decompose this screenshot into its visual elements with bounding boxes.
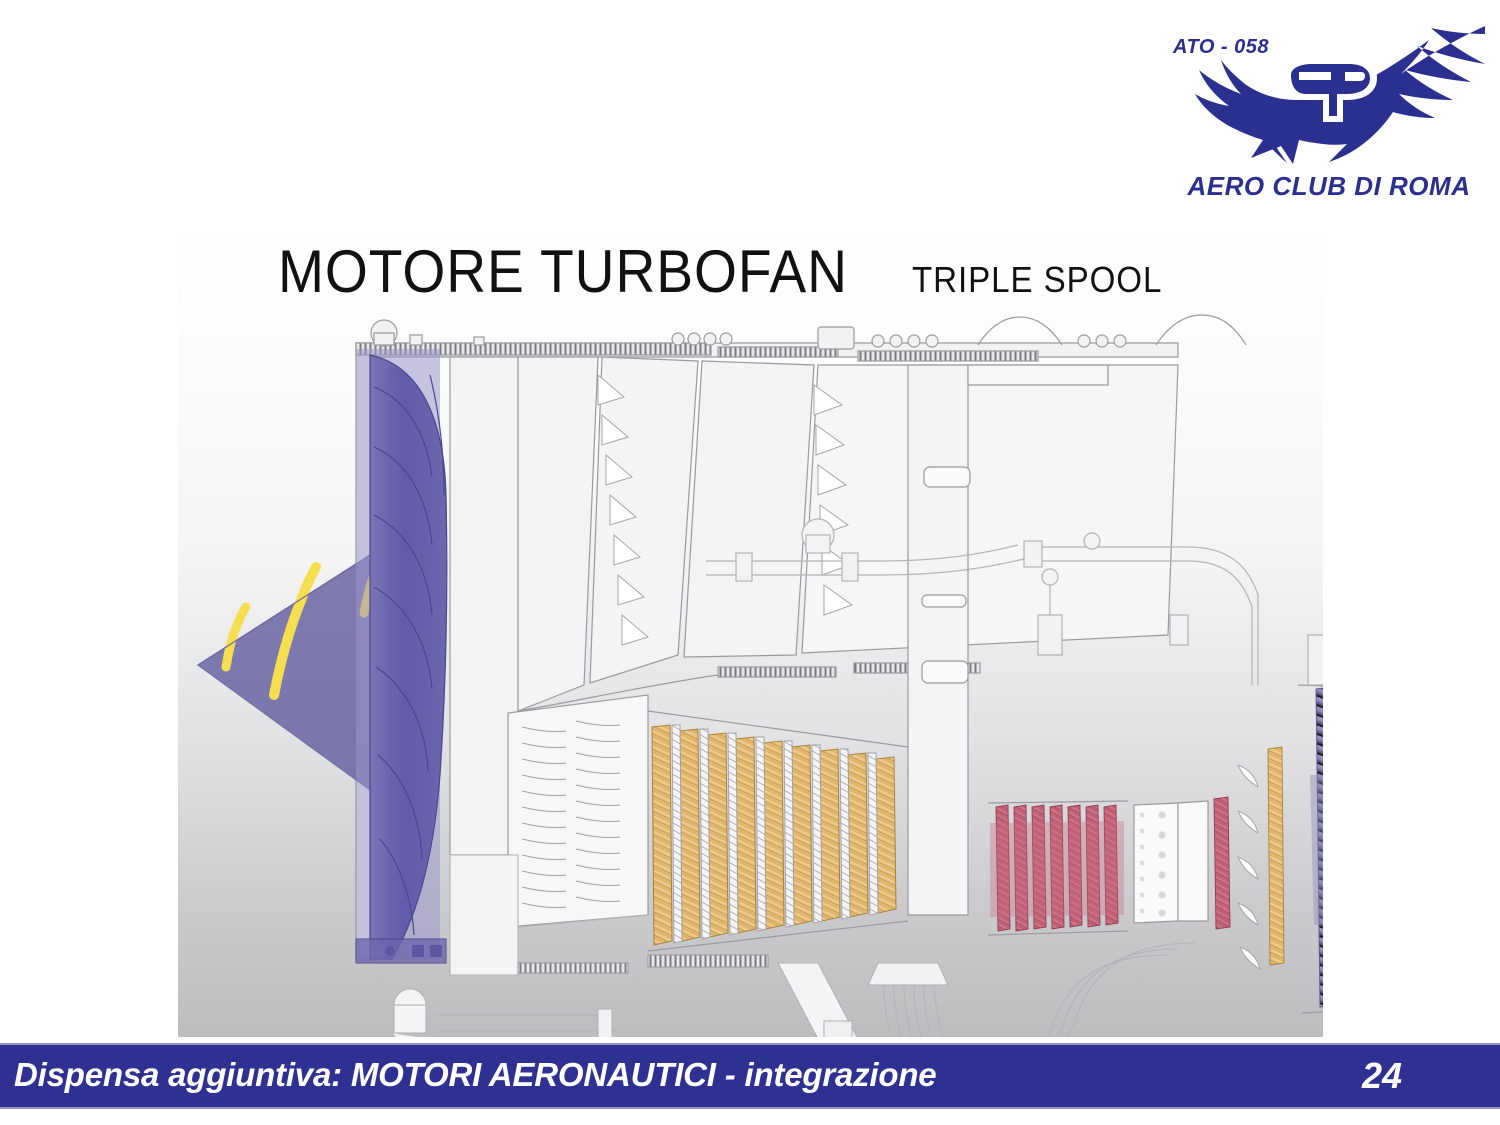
engine-diagram-panel: MOTORE TURBOFANTRIPLE SPOOL bbox=[178, 215, 1323, 1037]
turbofan-cutaway-drawing bbox=[178, 215, 1323, 1037]
lp-turbine bbox=[1298, 685, 1323, 1013]
page-number: 24 bbox=[1362, 1055, 1402, 1097]
fan-blade bbox=[356, 349, 447, 963]
booster-compressor bbox=[508, 695, 648, 927]
hp-compressor bbox=[988, 801, 1128, 935]
footer-title: Dispensa aggiuntiva: MOTORI AERONAUTICI … bbox=[14, 1056, 936, 1094]
combustor bbox=[1134, 801, 1208, 923]
club-name-label: AERO CLUB DI ROMA bbox=[1169, 171, 1489, 202]
ip-compressor bbox=[648, 711, 908, 951]
hp-turbine bbox=[1214, 797, 1230, 929]
spinner-cone bbox=[198, 555, 374, 790]
ip-turbine bbox=[1238, 747, 1284, 969]
slide-footer: Dispensa aggiuntiva: MOTORI AERONAUTICI … bbox=[0, 1043, 1500, 1109]
ato-code-label: ATO - 058 bbox=[1173, 36, 1269, 59]
aero-club-logo: ATO - 058 AERO CLUB DI ROMA bbox=[1155, 18, 1490, 213]
